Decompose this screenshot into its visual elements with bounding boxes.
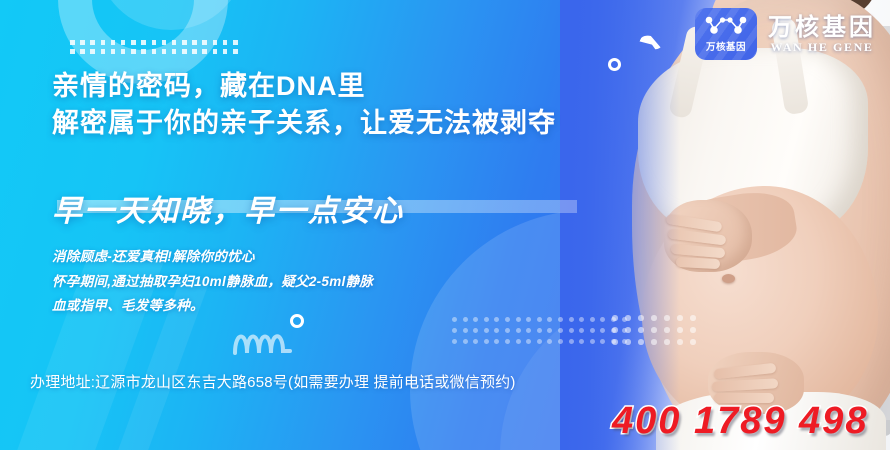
body-line-2: 怀孕期间,通过抽取孕妇10ml静脉血，疑父2-5ml静脉: [52, 273, 373, 292]
wave-icon: [232, 325, 296, 357]
subheadline-text: 早一天知晓，早一点安心: [52, 186, 404, 230]
subheadline: 早一天知晓，早一点安心: [52, 186, 404, 230]
logo-badge: 万核基因: [695, 8, 757, 60]
dot-grid-top-decoration: [70, 40, 243, 58]
headline: 亲情的密码，藏在DNA里 解密属于你的亲子关系，让爱无法被剥夺: [52, 68, 556, 141]
logo-name-cn: 万核基因: [768, 16, 876, 40]
headline-line-2: 解密属于你的亲子关系，让爱无法被剥夺: [52, 105, 556, 142]
molecule-icon: [704, 15, 748, 37]
promo-banner: 万核基因 万核基因 WAN HE GENE 亲情的密码，藏在DNA里 解密属于你…: [0, 0, 890, 450]
phone-number[interactable]: 400 1789 498: [612, 400, 868, 443]
body-copy: 消除顾虑-还爱真相!解除你的忧心 怀孕期间,通过抽取孕妇10ml静脉血，疑父2-…: [52, 248, 373, 322]
logo-badge-label: 万核基因: [706, 39, 746, 53]
ring-icon: [608, 58, 621, 71]
brand-logo[interactable]: 万核基因 万核基因 WAN HE GENE: [695, 8, 876, 60]
logo-name-en: WAN HE GENE: [771, 41, 874, 53]
address-text: 办理地址:辽源市龙山区东吉大路658号(如需要办理 提前电话或微信预约): [30, 371, 516, 392]
dot-grid-middle-decoration: [452, 317, 632, 350]
body-line-1: 消除顾虑-还爱真相!解除你的忧心: [52, 248, 373, 267]
dot-grid-right-decoration: [612, 315, 703, 351]
body-line-3: 血或指甲、毛发等多种。: [52, 297, 373, 316]
headline-line-1: 亲情的密码，藏在DNA里: [52, 68, 556, 105]
